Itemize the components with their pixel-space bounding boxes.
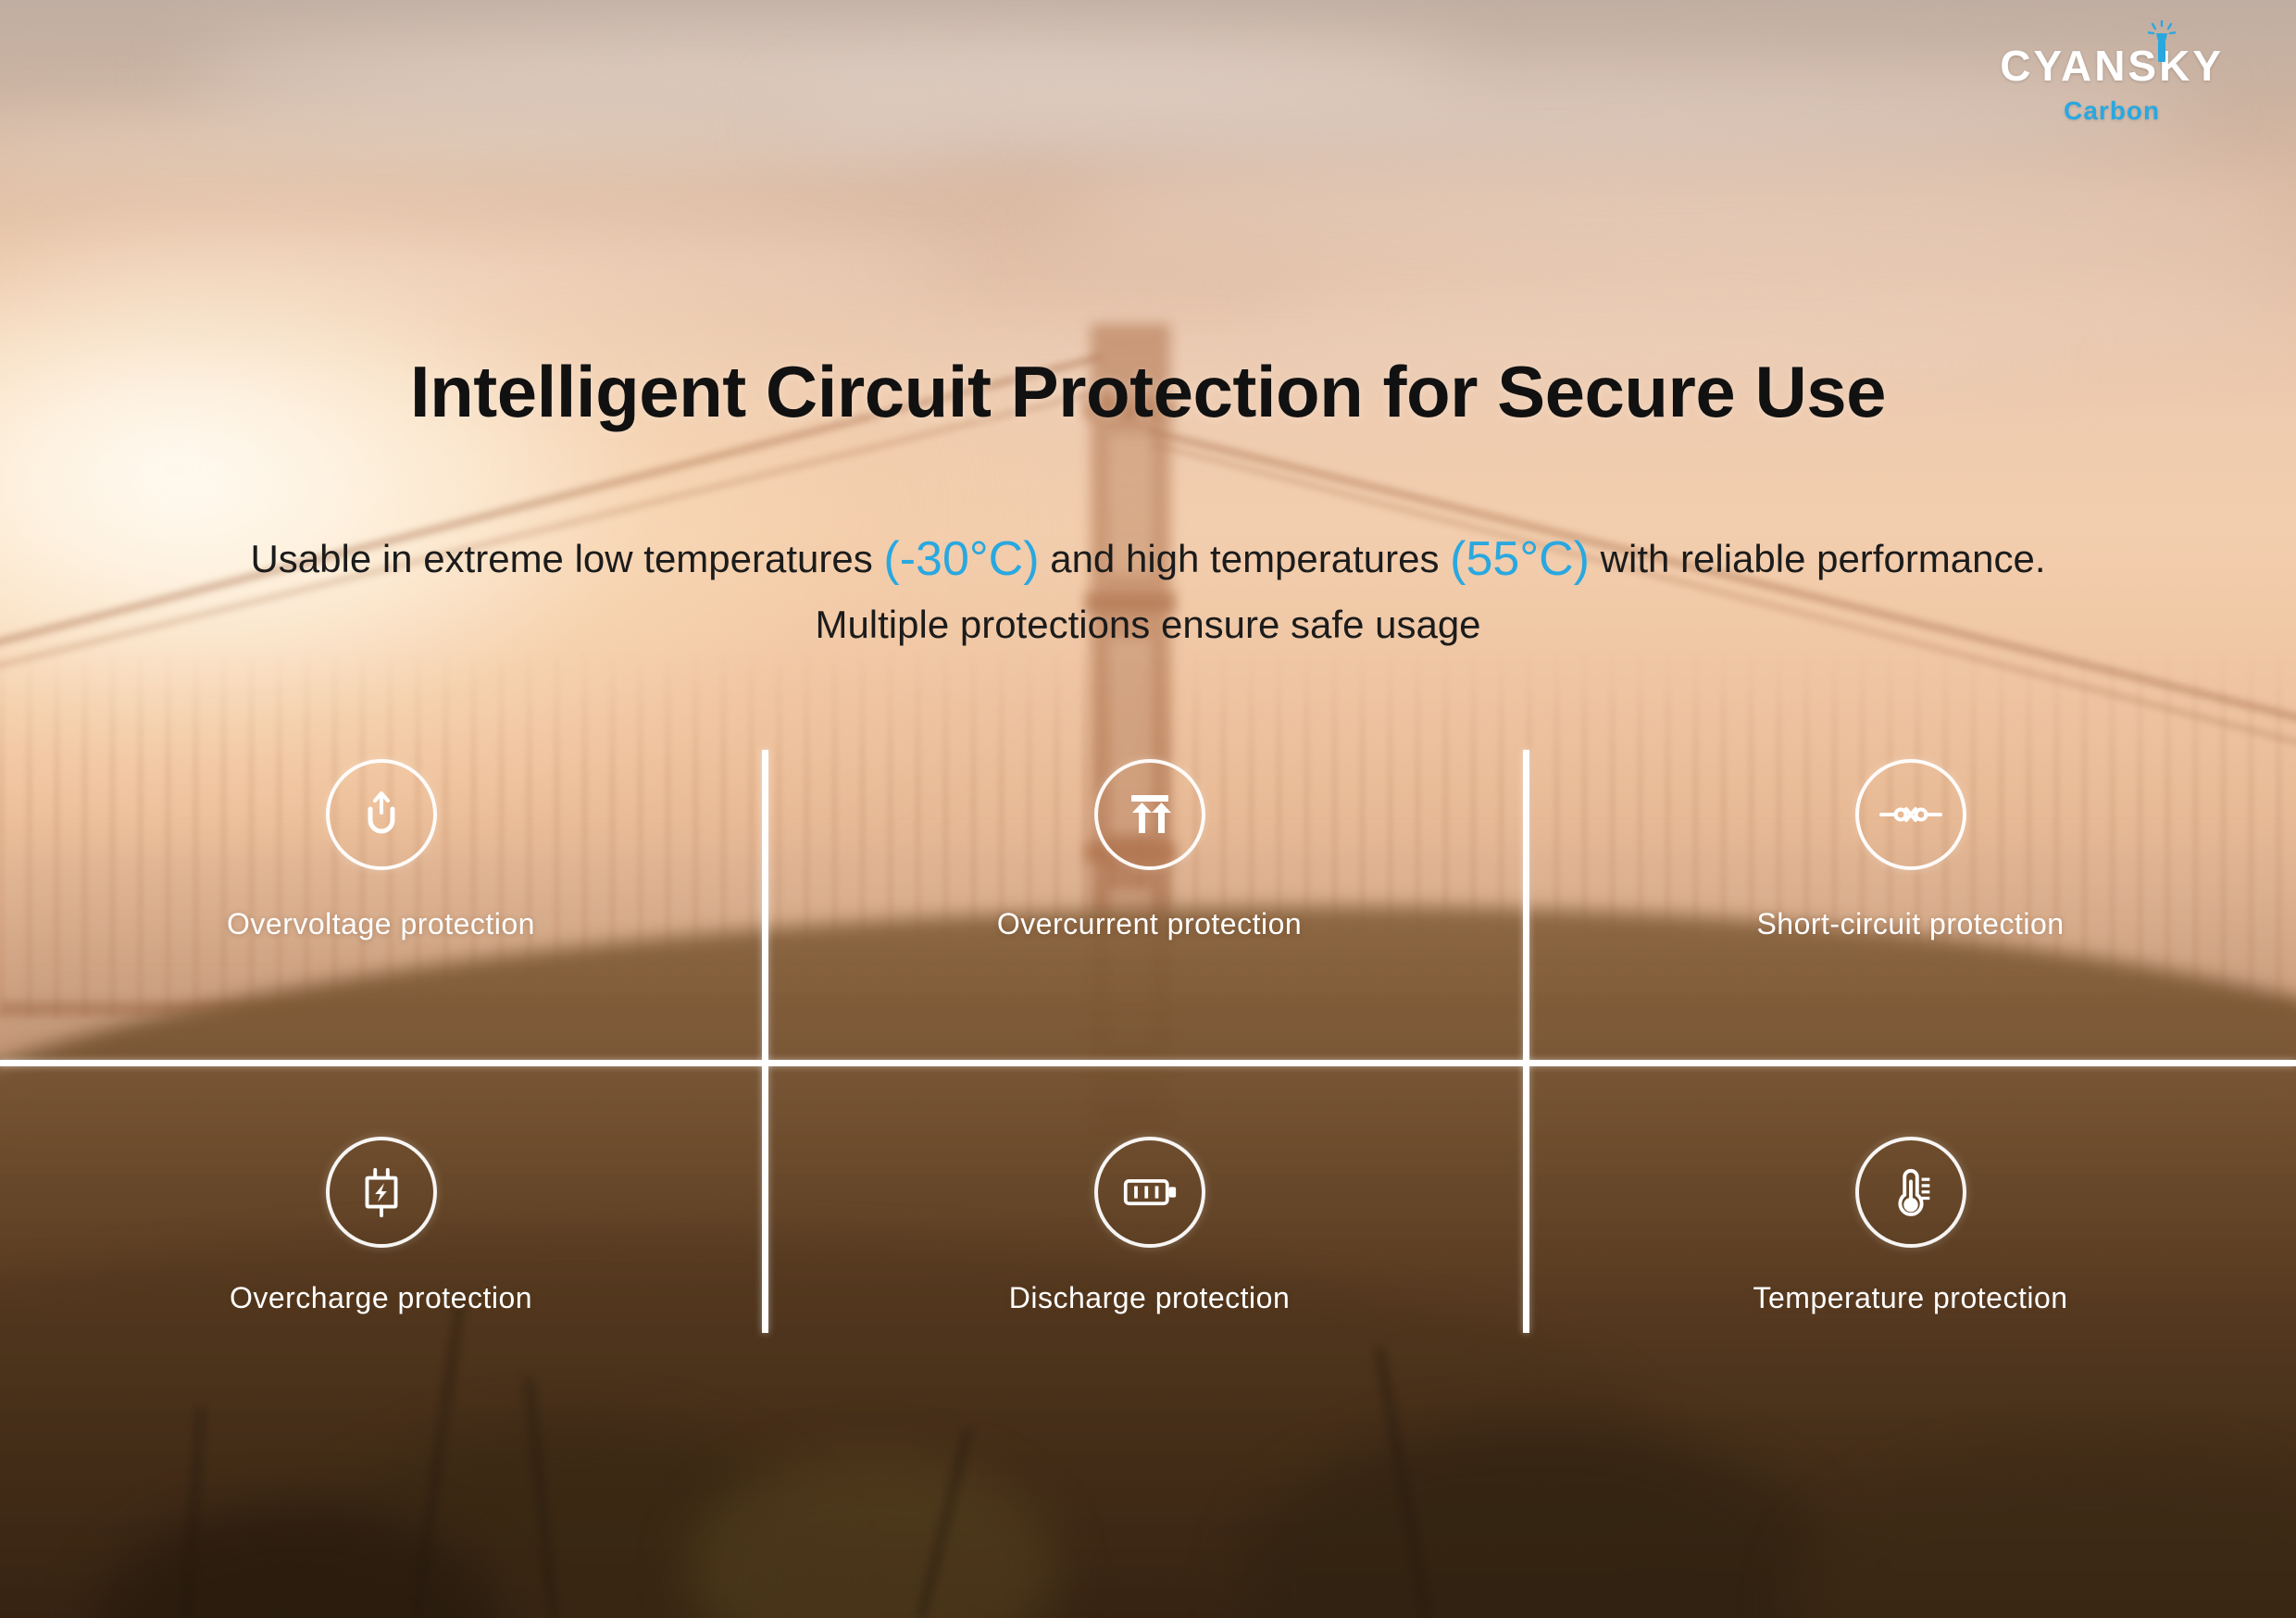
feature-grid: Overvoltage protection Overcurrent prote… bbox=[0, 750, 2296, 1342]
page-subtitle: Usable in extreme low temperatures (-30°… bbox=[0, 523, 2296, 653]
subtitle-part-1: Usable in extreme low temperatures bbox=[250, 537, 883, 580]
feature-label: Overcharge protection bbox=[230, 1281, 532, 1315]
grid-divider-vertical bbox=[762, 750, 768, 1333]
feature-overcharge: Overcharge protection bbox=[0, 1137, 762, 1315]
feature-label: Temperature protection bbox=[1753, 1281, 2067, 1315]
feature-overvoltage: Overvoltage protection bbox=[0, 759, 762, 941]
brand-name: CYANSKY bbox=[2000, 44, 2224, 87]
high-temperature-value: (55°C) bbox=[1450, 532, 1590, 586]
low-temperature-value: (-30°C) bbox=[883, 532, 1039, 586]
brand-logo: CYANSKY Carbon bbox=[2000, 44, 2224, 124]
feature-label: Overcurrent protection bbox=[997, 907, 1302, 941]
feature-label: Overvoltage protection bbox=[227, 907, 535, 941]
brand-sub: Carbon bbox=[2000, 98, 2224, 124]
feature-discharge: Discharge protection bbox=[768, 1137, 1530, 1315]
subtitle-part-3: with reliable performance. bbox=[1590, 537, 2046, 580]
flashlight-icon bbox=[2148, 20, 2176, 63]
page-title: Intelligent Circuit Protection for Secur… bbox=[0, 350, 2296, 434]
overvoltage-icon bbox=[326, 759, 437, 870]
battery-discharge-icon bbox=[1094, 1137, 1205, 1248]
feature-overcurrent: Overcurrent protection bbox=[768, 759, 1530, 941]
marketing-slide: CYANSKY Carbon Intelligent Circuit Prote… bbox=[0, 0, 2296, 1618]
subtitle-line-2: Multiple protections ensure safe usage bbox=[815, 603, 1480, 646]
feature-label: Discharge protection bbox=[1009, 1281, 1290, 1315]
grid-divider-horizontal bbox=[0, 1060, 2296, 1066]
feature-short-circuit: Short-circuit protection bbox=[1529, 759, 2291, 941]
overcharge-plug-icon bbox=[326, 1137, 437, 1248]
subtitle-part-2: and high temperatures bbox=[1040, 537, 1451, 580]
feature-temperature: Temperature protection bbox=[1529, 1137, 2291, 1315]
overcurrent-icon bbox=[1094, 759, 1205, 870]
thermometer-icon bbox=[1855, 1137, 1966, 1248]
feature-label: Short-circuit protection bbox=[1756, 907, 2064, 941]
short-circuit-icon bbox=[1855, 759, 1966, 870]
